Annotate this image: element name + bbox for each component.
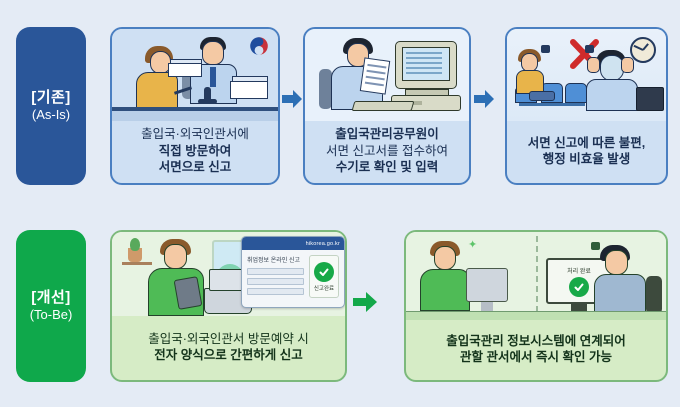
- caption-line: 수기로 확인 및 입력: [336, 159, 438, 176]
- panel-manual-entry: 출입국관리공무원이 서면 신고서를 접수하여 수기로 확인 및 입력: [303, 27, 471, 185]
- dialog-titlebar: hikorea.go.kr: [242, 237, 344, 250]
- illustration-manual-entry: [305, 29, 469, 121]
- caption-line: 출입국·외국인관서에: [141, 126, 249, 143]
- green-check-icon: [569, 277, 589, 297]
- illustration-inconvenience: [507, 29, 666, 121]
- row-label-as-is-en: (As-Is): [32, 107, 70, 123]
- caption-line: 출입국관리공무원이: [335, 126, 439, 143]
- right-arrow-blue-icon: [281, 88, 303, 110]
- green-check-icon: [314, 262, 334, 282]
- illustration-online-report: hikorea.go.kr 취업정보 온라인 신고 신고완료: [112, 232, 345, 316]
- wall-clock-icon: [630, 37, 656, 63]
- dialog-form-label: 취업정보 온라인 신고: [247, 255, 304, 264]
- korea-government-emblem-icon: [248, 35, 270, 57]
- caption-line: 서면 신고에 따른 불편,: [528, 135, 645, 152]
- panel-online-report: hikorea.go.kr 취업정보 온라인 신고 신고완료: [110, 230, 347, 382]
- process-diagram: [기존] (As-Is): [0, 0, 680, 407]
- illustration-visit-office: [112, 29, 278, 121]
- row-label-to-be-en: (To-Be): [30, 307, 73, 323]
- row-label-to-be: [개선] (To-Be): [16, 230, 86, 382]
- panel-system-linked: ✦ ✦ 처리 완료 출입국관리 정보시스템에 연계되어 관할: [404, 230, 668, 382]
- caption-visit-office: 출입국·외국인관서에 직접 방문하여 서면으로 신고: [112, 121, 278, 183]
- dialog-status-badge: 신고완료: [309, 255, 339, 298]
- caption-online-report: 출입국·외국인관서 방문예약 시 전자 양식으로 간편하게 신고: [112, 316, 345, 380]
- panel-visit-office: 출입국·외국인관서에 직접 방문하여 서면으로 신고: [110, 27, 280, 185]
- right-arrow-green-icon: [352, 290, 378, 314]
- row-label-as-is: [기존] (As-Is): [16, 27, 86, 185]
- panel-inconvenience: 서면 신고에 따른 불편, 행정 비효율 발생: [505, 27, 668, 185]
- monitor-status-label: 처리 완료: [548, 266, 610, 275]
- row-label-to-be-ko: [개선]: [31, 289, 71, 308]
- row-label-as-is-ko: [기존]: [31, 89, 71, 108]
- caption-line: 서면 신고서를 접수하여: [326, 143, 448, 160]
- caption-line: 직접 방문하여: [159, 143, 231, 160]
- hikorea-dialog: hikorea.go.kr 취업정보 온라인 신고 신고완료: [241, 236, 345, 308]
- caption-system-linked: 출입국관리 정보시스템에 연계되어 관할 관서에서 즉시 확인 가능: [406, 320, 666, 380]
- caption-line: 행정 비효율 발생: [543, 151, 630, 168]
- right-arrow-blue-icon: [473, 88, 495, 110]
- caption-line: 전자 양식으로 간편하게 신고: [154, 347, 302, 364]
- dialog-site-url: hikorea.go.kr: [306, 241, 340, 247]
- dialog-input-field[interactable]: [247, 288, 304, 295]
- caption-line: 출입국·외국인관서 방문예약 시: [148, 331, 309, 348]
- caption-line: 출입국관리 정보시스템에 연계되어: [446, 333, 625, 350]
- dialog-status-label: 신고완료: [314, 284, 334, 292]
- caption-manual-entry: 출입국관리공무원이 서면 신고서를 접수하여 수기로 확인 및 입력: [305, 121, 469, 183]
- caption-inconvenience: 서면 신고에 따른 불편, 행정 비효율 발생: [507, 121, 666, 183]
- caption-line: 서면으로 신고: [159, 159, 231, 176]
- dialog-input-field[interactable]: [247, 278, 304, 285]
- dialog-input-field[interactable]: [247, 268, 304, 275]
- illustration-system-linked: ✦ ✦ 처리 완료: [406, 232, 666, 320]
- caption-line: 관할 관서에서 즉시 확인 가능: [460, 349, 612, 366]
